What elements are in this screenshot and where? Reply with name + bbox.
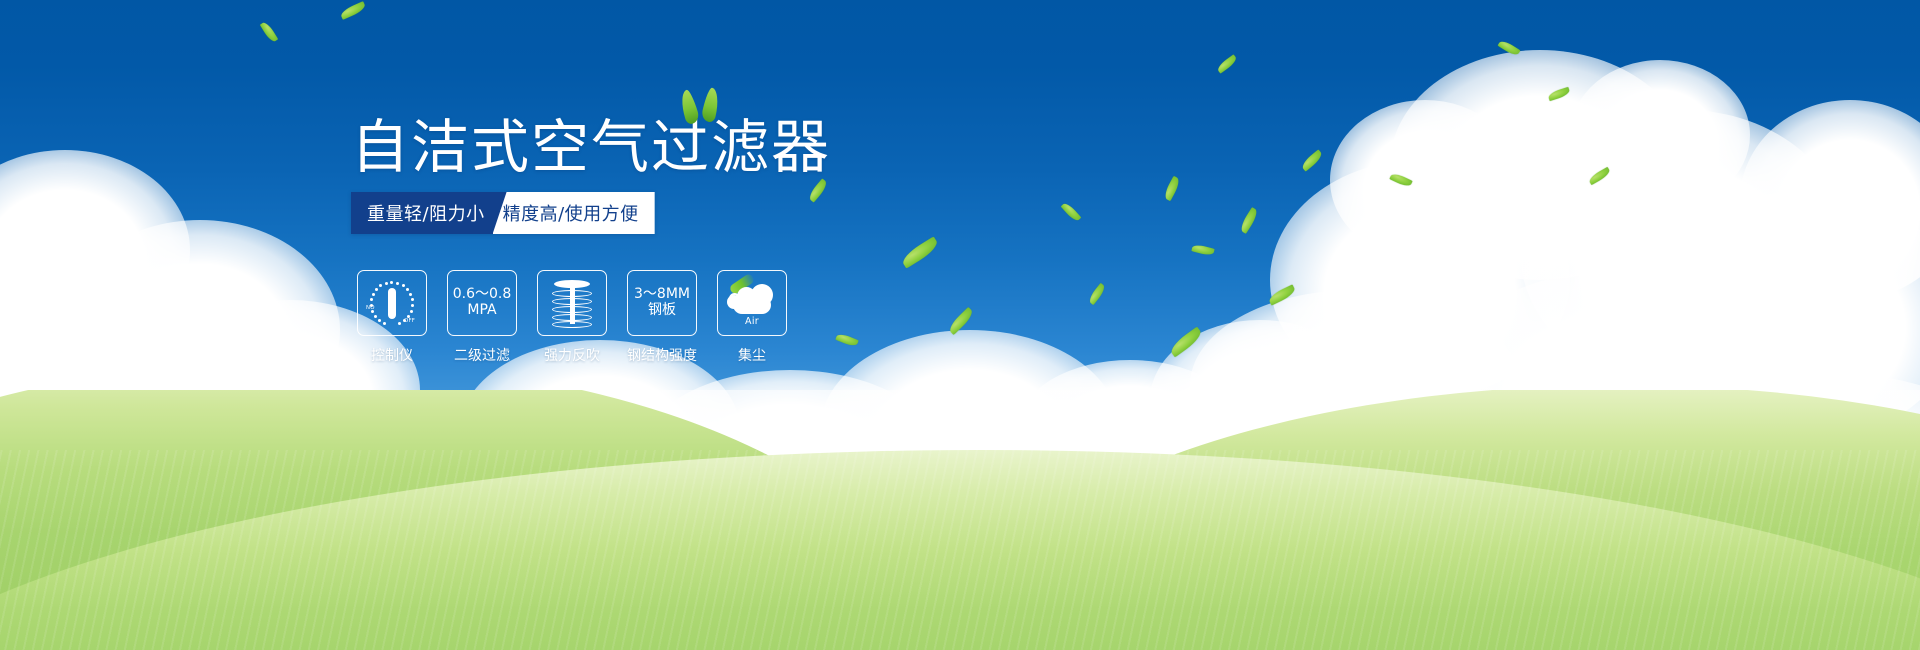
tagline-right: 精度高/使用方便 — [493, 192, 655, 234]
feature-caption: 二级过滤 — [454, 345, 510, 365]
feature-icon-box: 3～8MM 钢板 — [627, 270, 697, 336]
feature-caption: 强力反吹 — [544, 345, 600, 365]
gauge-tick — [385, 282, 388, 285]
feature-item[interactable]: Air 集尘 — [717, 270, 787, 365]
gauge-tick — [372, 293, 375, 296]
gauge-tick — [378, 319, 381, 322]
gauge-label-no: NO — [366, 305, 375, 311]
tagline-left: 重量轻/阻力小 — [351, 192, 507, 234]
gauge-tick — [374, 315, 377, 318]
feature-icon-box: NO OFF — [357, 270, 427, 336]
feature-value-line1: 0.6～0.8 — [453, 287, 512, 303]
feature-item[interactable]: 0.6～0.8 MPA 二级过滤 — [447, 270, 517, 365]
product-banner: 自洁式空气过滤器 重量轻/阻力小 精度高/使用方便 NO OFF — [0, 0, 1920, 650]
feature-item[interactable]: 3～8MM 钢板 钢结构强度 — [627, 270, 697, 365]
gauge-tick — [383, 322, 386, 325]
gauge-label-off: OFF — [404, 318, 415, 324]
gauge-dial-icon: NO OFF — [367, 279, 417, 327]
banner-content: 自洁式空气过滤器 重量轻/阻力小 精度高/使用方便 NO OFF — [0, 0, 1920, 650]
tagline-badge: 重量轻/阻力小 精度高/使用方便 — [351, 192, 655, 234]
page-title: 自洁式空气过滤器 — [351, 118, 831, 176]
gauge-tick — [398, 322, 401, 325]
gauge-tick — [402, 284, 405, 287]
air-label: Air — [725, 316, 779, 327]
feature-caption: 控制仪 — [371, 345, 413, 365]
feature-item[interactable]: 强力反吹 — [537, 270, 607, 365]
feature-list: NO OFF 控制仪 0.6～0.8 MPA 二级过滤 — [357, 270, 787, 365]
coil-cap — [554, 280, 590, 288]
feature-caption: 集尘 — [738, 345, 766, 365]
coil-filter-icon — [552, 280, 592, 326]
air-swirl — [729, 293, 740, 304]
feature-item[interactable]: NO OFF 控制仪 — [357, 270, 427, 365]
feature-icon-box: Air — [717, 270, 787, 336]
gauge-tick — [406, 288, 409, 291]
gauge-tick — [390, 281, 393, 284]
sprout-leaf-right — [700, 87, 721, 123]
gauge-tick — [411, 304, 414, 307]
feature-value-line1: 3～8MM — [634, 287, 690, 303]
gauge-tick — [396, 282, 399, 285]
feature-icon-box — [537, 270, 607, 336]
feature-value-line2: MPA — [467, 303, 496, 319]
gauge-tick — [409, 293, 412, 296]
gauge-needle — [388, 288, 396, 319]
feature-icon-box: 0.6～0.8 MPA — [447, 270, 517, 336]
gauge-tick — [375, 288, 378, 291]
sprout-leaf-left — [677, 89, 700, 126]
gauge-tick — [410, 310, 413, 313]
gauge-tick — [370, 298, 373, 301]
feature-value-line2: 钢板 — [648, 303, 676, 319]
gauge-tick — [379, 284, 382, 287]
air-cloud-icon: Air — [725, 281, 779, 325]
feature-caption: 钢结构强度 — [627, 345, 697, 365]
gauge-tick — [411, 298, 414, 301]
title-sprout-icon — [680, 86, 726, 128]
